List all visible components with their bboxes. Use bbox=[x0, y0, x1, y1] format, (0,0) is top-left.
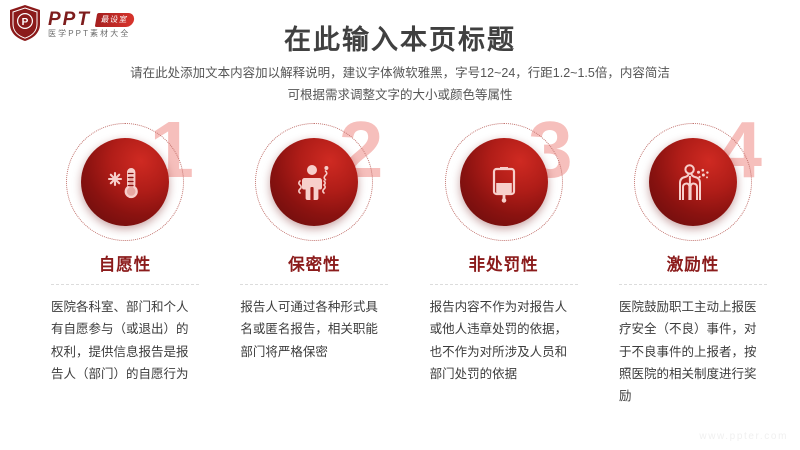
divider bbox=[240, 284, 388, 285]
icon-badge[interactable]: 4 bbox=[618, 118, 768, 246]
feature-column: 1 bbox=[40, 118, 210, 407]
feature-column: 2 保密性 报告人可 bbox=[229, 118, 399, 407]
subtitle-line-1: 请在此处添加文本内容加以解释说明，建议字体微软雅黑，字号12~24，行距1.2~… bbox=[0, 63, 800, 85]
subtitle-line-2: 可根据需求调整文字的大小或颜色等属性 bbox=[0, 85, 800, 107]
feature-columns: 1 bbox=[40, 118, 778, 407]
page-subtitle: 请在此处添加文本内容加以解释说明，建议字体微软雅黑，字号12~24，行距1.2~… bbox=[0, 63, 800, 106]
icon-badge[interactable]: 3 bbox=[429, 118, 579, 246]
page-title: 在此输入本页标题 bbox=[0, 18, 800, 57]
feature-column: 4 bbox=[608, 118, 778, 407]
feature-body: 报告内容不作为对报告人或他人违章处罚的依据，也不作为对所涉及人员和部门处罚的依据 bbox=[430, 296, 578, 385]
lungs-cough-icon bbox=[649, 138, 737, 226]
feature-body: 医院鼓励职工主动上报医疗安全（不良）事件，对于不良事件的上报者，按照医院的相关制… bbox=[619, 296, 767, 407]
feature-label: 自愿性 bbox=[99, 251, 152, 275]
feature-body: 医院各科室、部门和个人有自愿参与（或退出）的权利，提供信息报告是报告人（部门）的… bbox=[51, 296, 199, 385]
divider bbox=[619, 284, 767, 285]
divider bbox=[51, 284, 199, 285]
thermometer-snowflake-icon bbox=[81, 138, 169, 226]
icon-badge[interactable]: 2 bbox=[239, 118, 389, 246]
icon-badge[interactable]: 1 bbox=[50, 118, 200, 246]
iv-drip-bag-icon bbox=[460, 138, 548, 226]
feature-label: 非处罚性 bbox=[469, 251, 539, 275]
feature-column: 3 非处罚性 报告内容不作为对报告人或他人违章处罚的依据，也不作为对所涉及人员和… bbox=[419, 118, 589, 407]
feature-label: 保密性 bbox=[288, 251, 341, 275]
patient-symptoms-icon bbox=[270, 138, 358, 226]
feature-label: 激励性 bbox=[667, 251, 720, 275]
watermark: www.ppter.com bbox=[699, 431, 788, 442]
divider bbox=[430, 284, 578, 285]
feature-body: 报告人可通过各种形式具名或匿名报告，相关职能部门将严格保密 bbox=[240, 296, 388, 363]
